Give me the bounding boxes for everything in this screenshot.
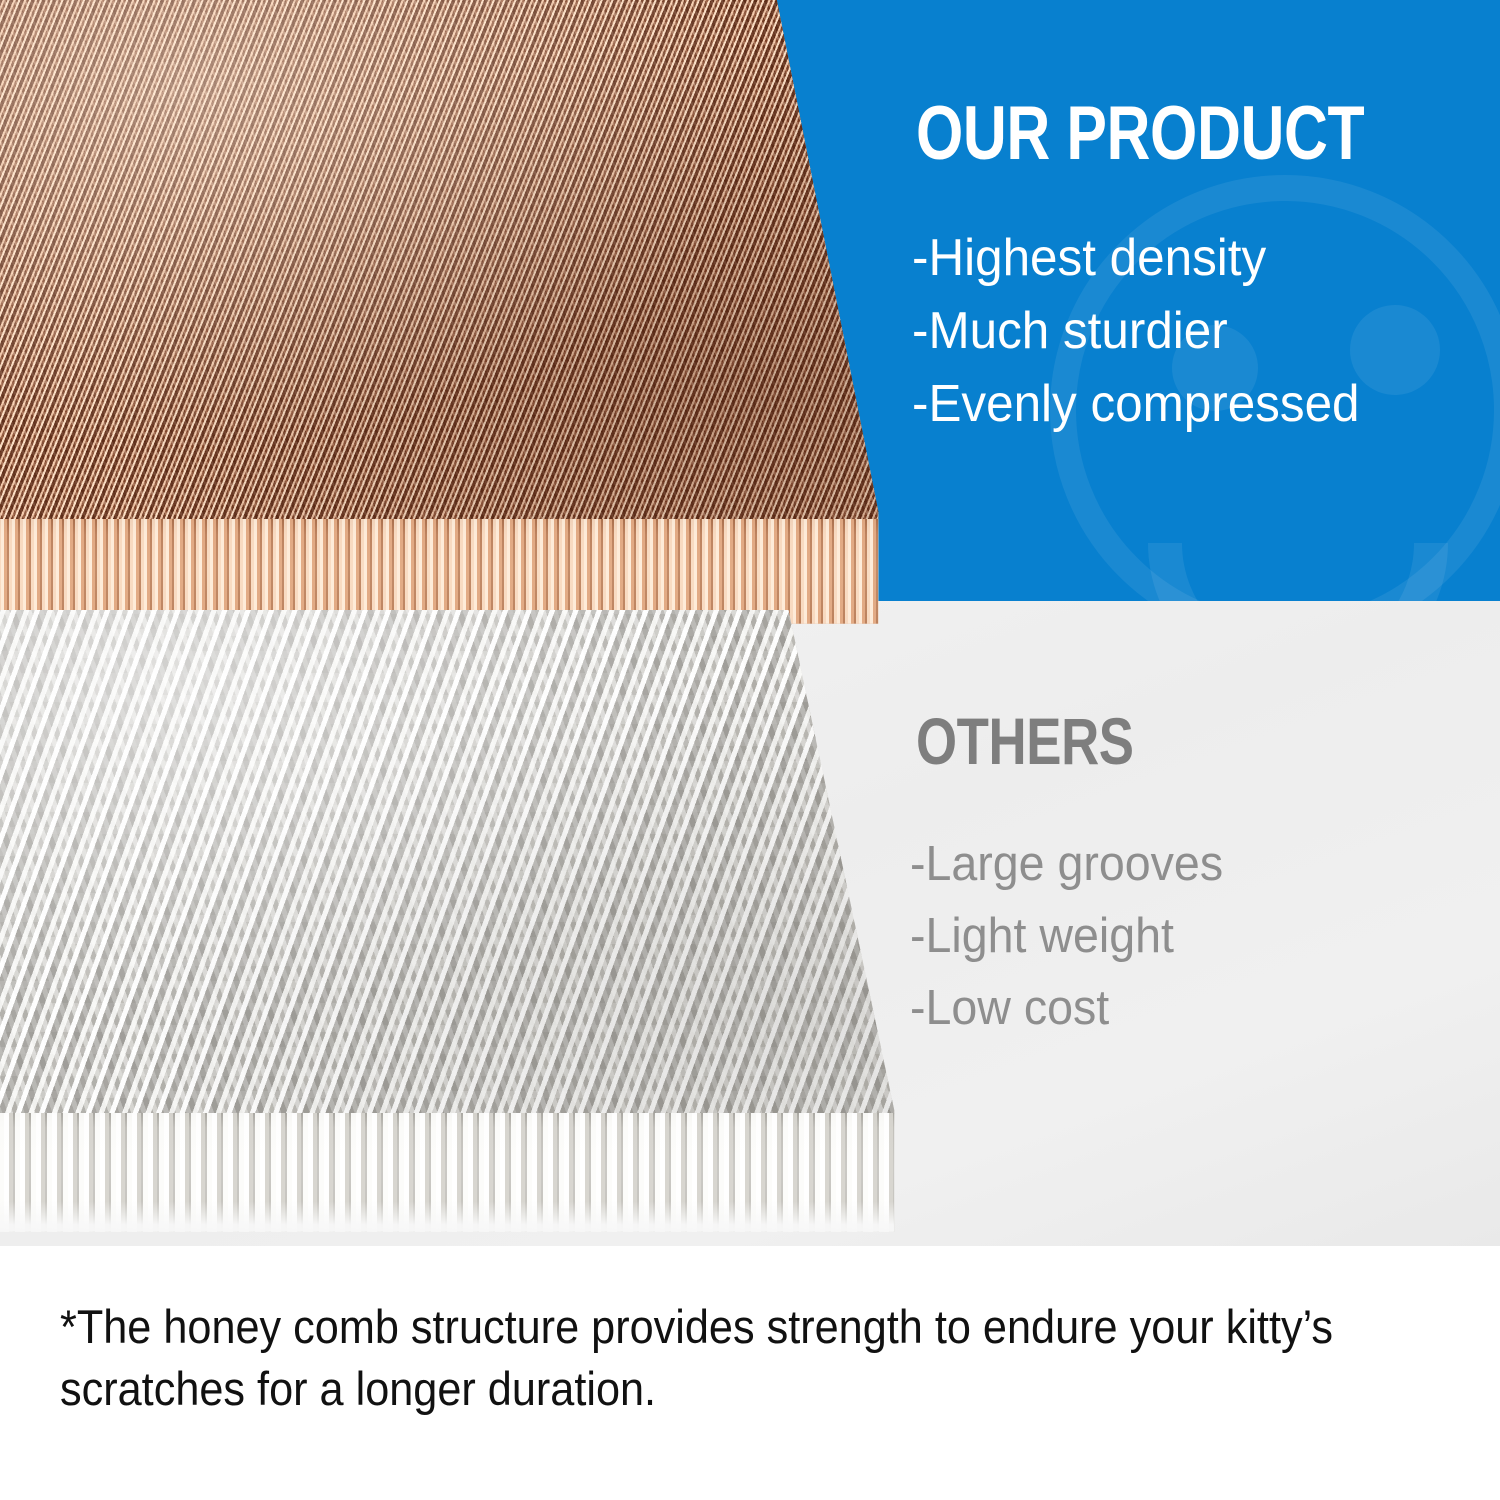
others-bullet-1: -Large grooves [910, 828, 1471, 900]
footnote-caption: *The honey comb structure provides stren… [60, 1296, 1348, 1420]
others-heading: OTHERS [916, 708, 1134, 774]
white-board-edge-fade [0, 1201, 908, 1235]
others-bullet-2: -Light weight [910, 900, 1471, 972]
white-board-front-edge [0, 1113, 908, 1235]
white-board-top-surface [0, 610, 908, 1120]
product-comparison-infographic: OUR PRODUCT -Highest density -Much sturd… [0, 0, 1500, 1500]
our-product-heading: OUR PRODUCT [916, 96, 1364, 172]
our-product-bullet-1: -Highest density [912, 222, 1473, 295]
others-bullet-list: -Large grooves -Light weight -Low cost [910, 828, 1500, 1044]
others-bullet-3: -Low cost [910, 972, 1471, 1044]
white-honeycomb-cardboard-photo [0, 610, 908, 1235]
our-product-bullet-3: -Evenly compressed [912, 368, 1473, 441]
tan-board-top-surface [0, 0, 890, 525]
our-product-bullet-2: -Much sturdier [912, 295, 1473, 368]
tan-honeycomb-cardboard-photo [0, 0, 890, 630]
our-product-bullet-list: -Highest density -Much sturdier -Evenly … [912, 222, 1500, 441]
